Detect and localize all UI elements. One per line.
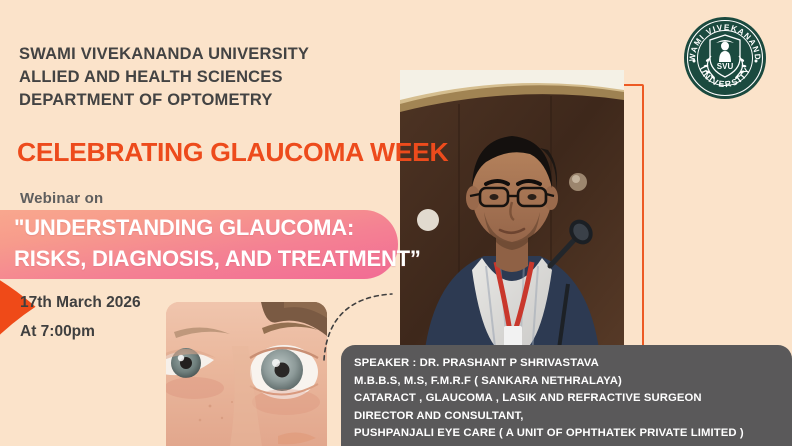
webinar-label: Webinar on (20, 190, 103, 207)
header-line-faculty: ALLIED AND HEALTH SCIENCES (19, 66, 309, 89)
event-datetime: 17th March 2026 At 7:00pm (20, 289, 141, 346)
glaucoma-eye-photo (166, 302, 327, 446)
speaker-portrait-photo (400, 70, 624, 356)
logo-monogram-text: SVU (717, 62, 734, 71)
speaker-affiliation-line: PUSHPANJALI EYE CARE ( A UNIT OF OPHTHAT… (354, 425, 744, 443)
webinar-title: "UNDERSTANDING GLAUCOMA: RISKS, DIAGNOSI… (14, 212, 404, 274)
eye-photo-graphic (166, 302, 327, 446)
organization-header: SWAMI VIVEKANANDA UNIVERSITY ALLIED AND … (19, 43, 309, 111)
webinar-title-line-1: "UNDERSTANDING GLAUCOMA: (14, 212, 404, 243)
header-line-department: DEPARTMENT OF OPTOMETRY (19, 89, 309, 112)
university-logo-seal: SWAMI VIVEKANANDA UNIVERSITY SVU (683, 16, 767, 100)
speaker-photo-graphic (400, 70, 624, 356)
event-time: At 7:00pm (20, 318, 141, 347)
poster-canvas: SWAMI VIVEKANANDA UNIVERSITY ALLIED AND … (0, 0, 792, 446)
speaker-specialities-line: CATARACT , GLAUCOMA , LASIK AND REFRACTI… (354, 390, 744, 408)
event-date: 17th March 2026 (20, 289, 141, 318)
speaker-qualifications-line: M.B.B.S, M.S, F.M.R.F ( SANKARA NETHRALA… (354, 373, 744, 391)
speaker-info-box: SPEAKER : DR. PRASHANT P SHRIVASTAVA M.B… (341, 345, 792, 446)
celebrating-headline: CELEBRATING GLAUCOMA WEEK (17, 137, 448, 168)
webinar-title-line-2: RISKS, DIAGNOSIS, AND TREATMENT” (14, 243, 404, 274)
header-line-university: SWAMI VIVEKANANDA UNIVERSITY (19, 43, 309, 66)
speaker-info-lines: SPEAKER : DR. PRASHANT P SHRIVASTAVA M.B… (354, 355, 744, 443)
speaker-name-line: SPEAKER : DR. PRASHANT P SHRIVASTAVA (354, 355, 744, 373)
speaker-role-line: DIRECTOR AND CONSULTANT, (354, 408, 744, 426)
